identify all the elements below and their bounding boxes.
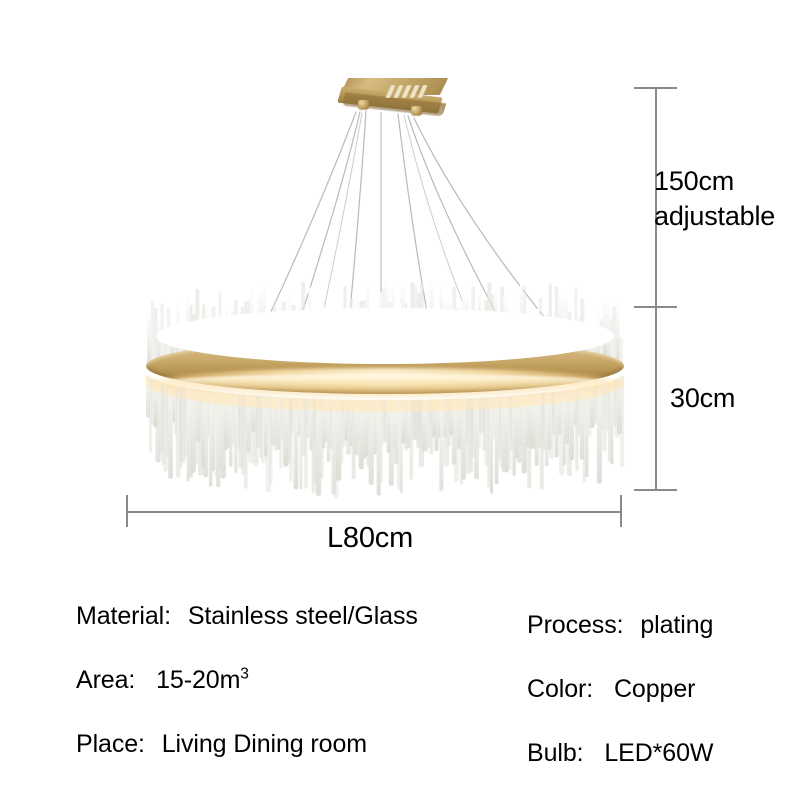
dimension-label-fixture-height: 30cm	[670, 381, 735, 416]
vertical-dimension-tick-middle	[634, 306, 677, 308]
spec-key-process: Process:	[527, 611, 623, 639]
dimension-label-height-adjustable: 150cm adjustable	[654, 164, 775, 233]
spec-key-color: Color:	[527, 675, 593, 703]
spec-value-area: 15-20m	[156, 666, 240, 694]
chandelier-body	[140, 282, 630, 492]
spec-key-area: Area:	[76, 666, 135, 694]
spec-value-process: plating	[640, 611, 713, 639]
spec-value-area-superscript: 3	[240, 666, 249, 683]
horizontal-dimension-line	[126, 511, 621, 513]
horizontal-dimension-tick-left	[126, 495, 128, 527]
spec-value-material: Stainless steel/Glass	[188, 602, 418, 630]
spec-key-bulb: Bulb:	[527, 739, 583, 767]
spec-row-color: Color: Copper	[527, 677, 713, 702]
gold-ring-band	[146, 338, 624, 394]
spec-row-place: Place: Living Dining room	[76, 732, 418, 757]
vertical-dimension-tick-top	[634, 87, 677, 89]
spec-value-place: Living Dining room	[162, 730, 367, 758]
spec-row-bulb: Bulb: LED*60W	[527, 741, 713, 766]
horizontal-dimension-tick-right	[620, 495, 622, 527]
product-spec-sheet: 150cm adjustable 30cm L80cm Material: St…	[0, 0, 800, 800]
spec-key-place: Place:	[76, 730, 145, 758]
spec-value-bulb: LED*60W	[604, 739, 713, 767]
spec-column-right: Process: plating Color: Copper Bulb: LED…	[527, 613, 713, 766]
spec-key-material: Material:	[76, 602, 171, 630]
dimension-label-width: L80cm	[327, 520, 413, 557]
spec-value-color: Copper	[614, 675, 695, 703]
spec-column-left: Material: Stainless steel/Glass Area: 15…	[76, 604, 418, 757]
spec-row-area: Area: 15-20m3	[76, 668, 418, 693]
vertical-dimension-line	[655, 88, 657, 490]
vertical-dimension-tick-bottom	[634, 489, 677, 491]
spec-row-material: Material: Stainless steel/Glass	[76, 604, 418, 629]
product-illustration	[0, 0, 660, 560]
spec-row-process: Process: plating	[527, 613, 713, 638]
